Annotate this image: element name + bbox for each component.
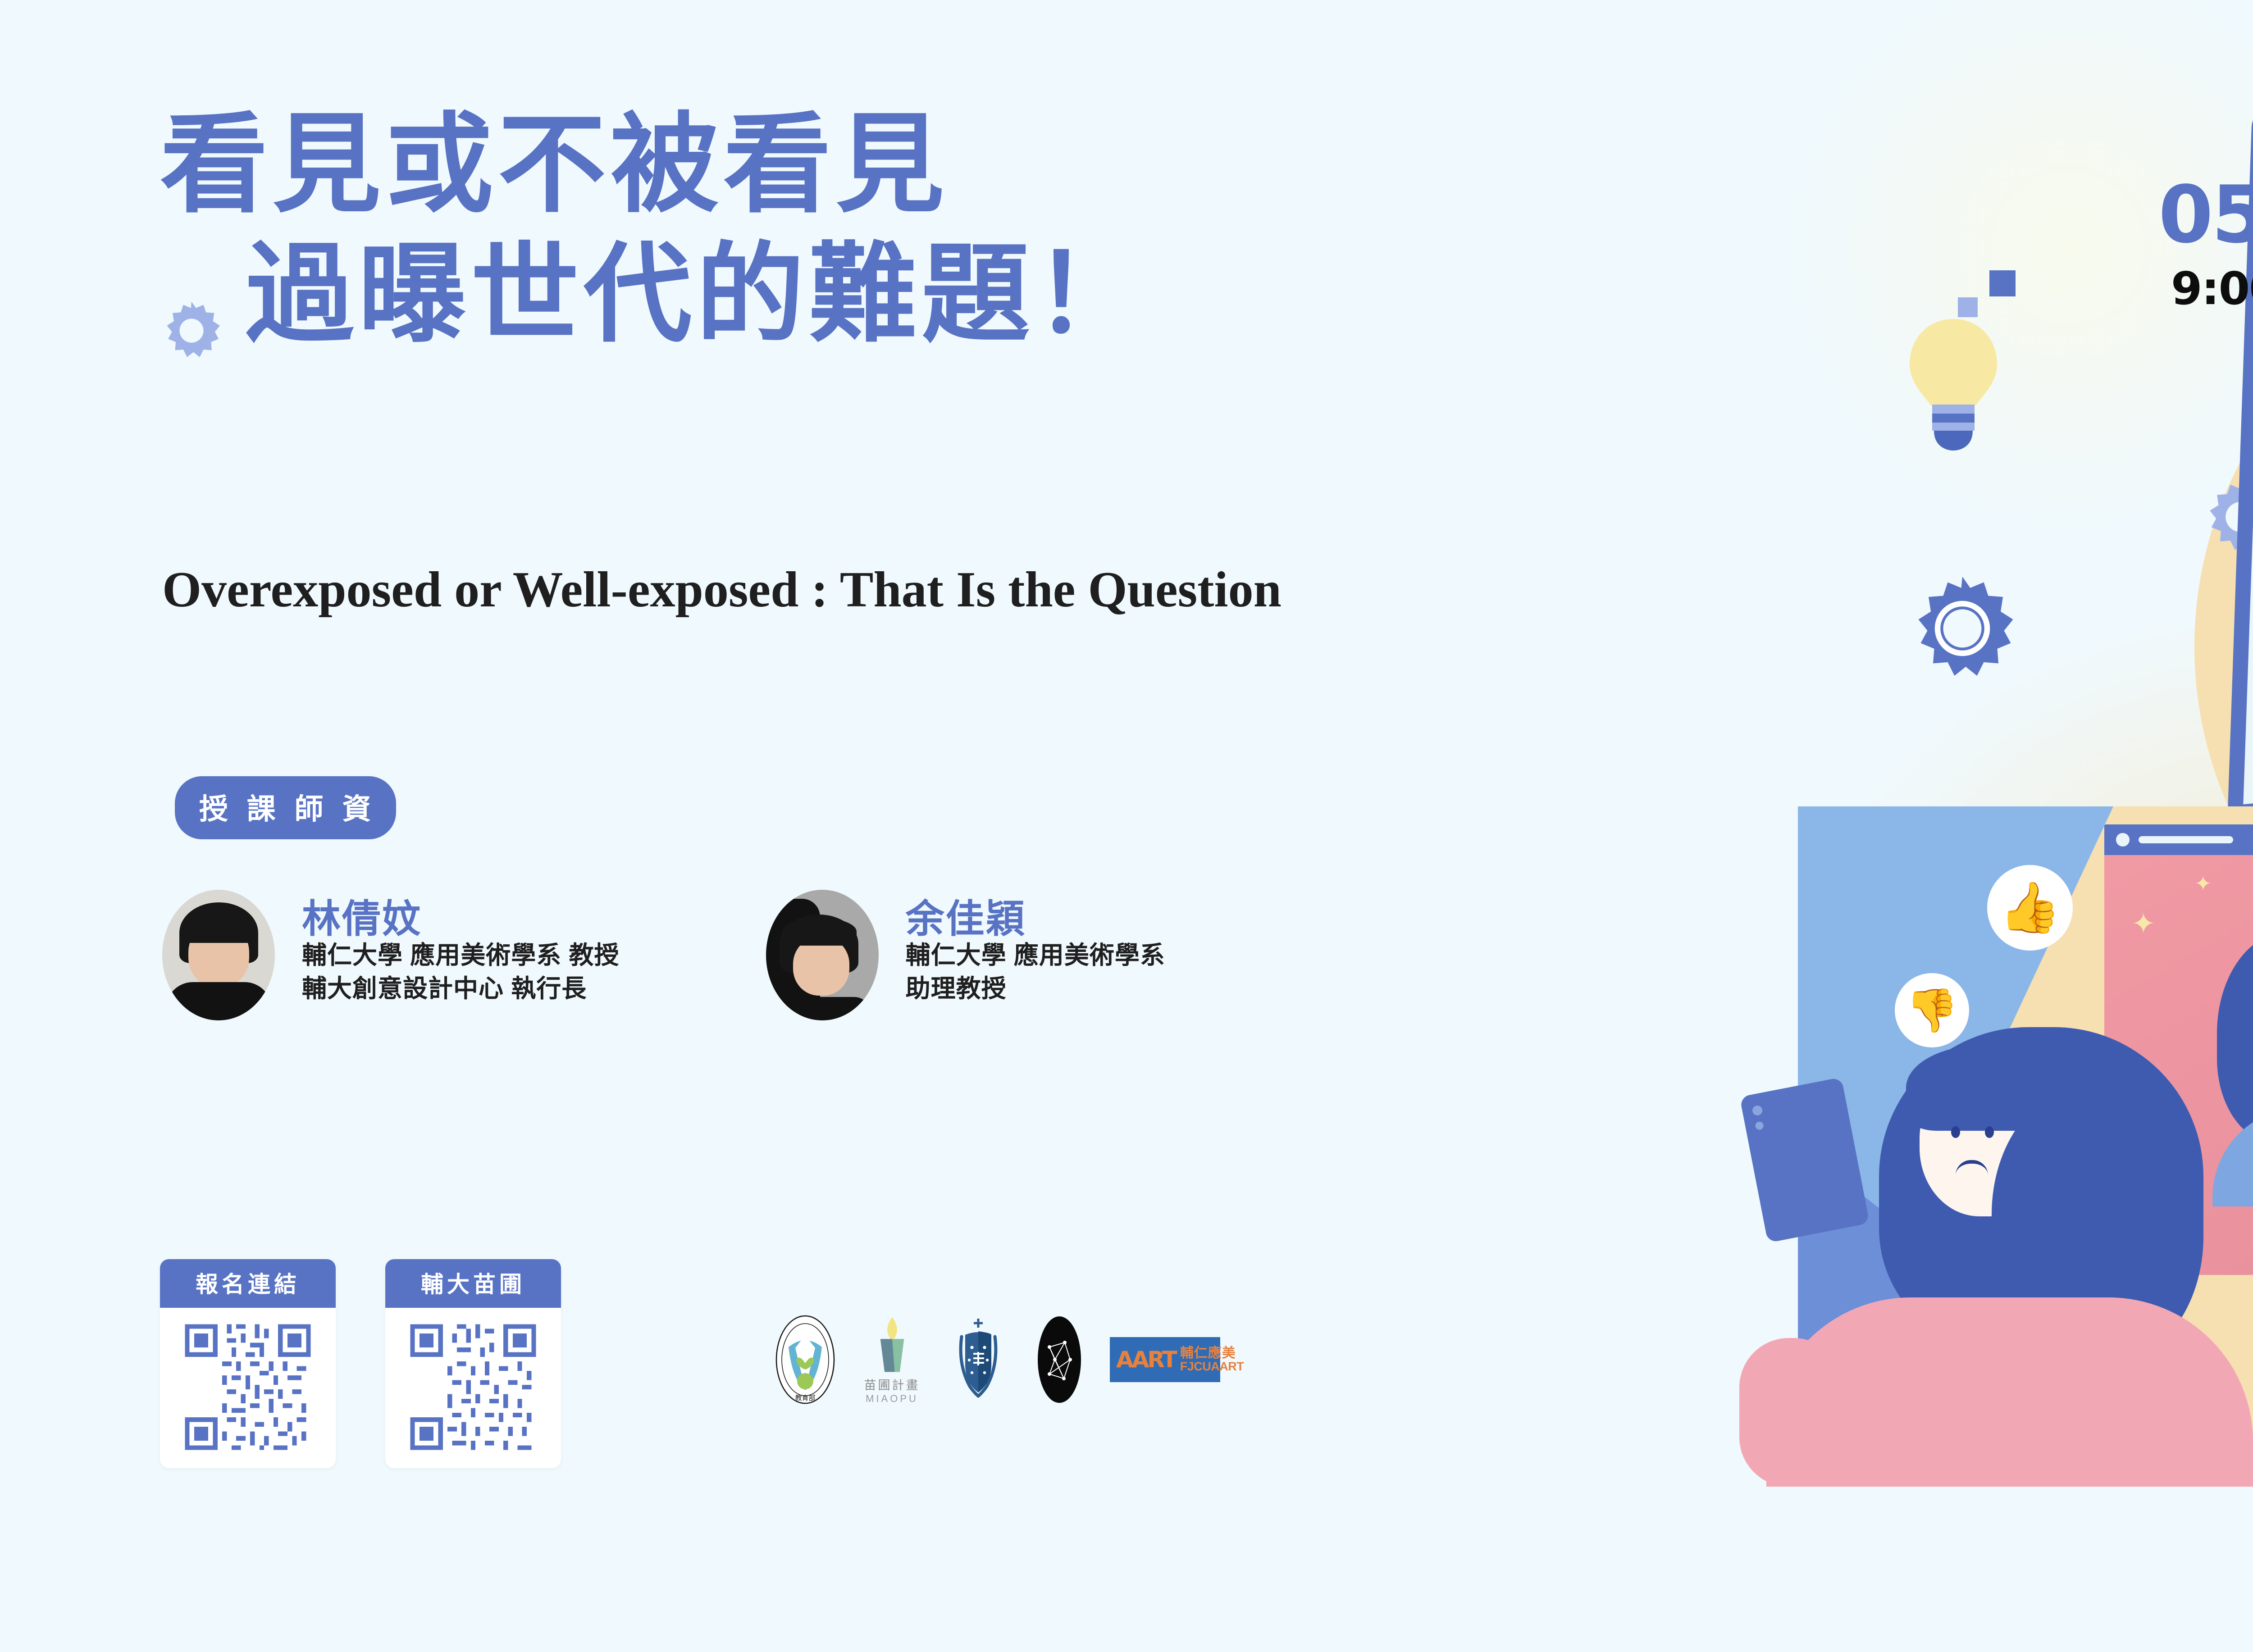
title-line-1-row: 看見或不被看見 bbox=[160, 110, 1147, 218]
title-line-1: 看見或不被看見 bbox=[160, 110, 949, 218]
logo-ministry-of-education: 教育部 bbox=[775, 1315, 836, 1405]
speaker-name: 余佳穎 bbox=[906, 900, 1165, 938]
qr-code-image[interactable] bbox=[406, 1320, 541, 1455]
speaker-avatar bbox=[766, 890, 879, 1020]
moe-cn-label: 教育部 bbox=[795, 1394, 815, 1402]
speaker-info: 林倩妏 輔仁大學 應用美術學系 教授 輔大創意設計中心 執行長 bbox=[302, 890, 620, 1020]
qr-label: 報名連結 bbox=[160, 1259, 336, 1308]
social-feed-illustration: ✦ ✦ ✦ ✦ 👍 bbox=[1798, 806, 2253, 1482]
speakers-list: 林倩妏 輔仁大學 應用美術學系 教授 輔大創意設計中心 執行長 余佳穎 輔仁大學… bbox=[162, 890, 1165, 1020]
sparkle-icon: ✦ bbox=[2131, 909, 2156, 938]
aart-mark: AART bbox=[1116, 1348, 1176, 1371]
miaopu-en-label: MIAOPU bbox=[866, 1393, 918, 1405]
speaker-info: 余佳穎 輔仁大學 應用美術學系 助理教授 bbox=[906, 890, 1165, 1020]
sparkle-icon: ✦ bbox=[2194, 873, 2212, 894]
qr-code-row: 報名連結 bbox=[160, 1259, 561, 1468]
window-dot bbox=[2116, 833, 2130, 846]
content-column: 看見或不被看見 過曝世代的難題！ Overexposed or Well-exp… bbox=[0, 0, 1757, 1652]
pixel-square bbox=[1989, 270, 2016, 296]
post-window-titlebar bbox=[2104, 824, 2253, 855]
speakers-section-heading: 授 課 師 資 bbox=[175, 776, 396, 839]
gear-icon bbox=[1906, 572, 2019, 685]
person-sad bbox=[1739, 1027, 2253, 1482]
miaopu-cn-label: 苗圃計畫 bbox=[864, 1375, 920, 1393]
aart-en-label: FJCUAART bbox=[1180, 1360, 1244, 1373]
logo-black-network bbox=[1037, 1315, 1082, 1405]
logo-miaopu: 苗圃計畫 MIAOPU bbox=[864, 1315, 920, 1405]
speaker-affiliation-2: 助理教授 bbox=[906, 972, 1165, 1005]
window-address-pill bbox=[2139, 836, 2233, 843]
qr-label: 輔大苗圃 bbox=[385, 1259, 561, 1308]
speaker-name: 林倩妏 bbox=[302, 900, 620, 938]
event-date-row: 05.28 Wed. bbox=[2158, 176, 2253, 255]
title-line-2: 過曝世代的難題！ bbox=[246, 240, 1147, 348]
pixel-square bbox=[1958, 297, 1978, 317]
aart-text: 輔仁應美 FJCUAART bbox=[1180, 1346, 1244, 1373]
logo-fjcu-aart: AART 輔仁應美 FJCUAART bbox=[1110, 1337, 1220, 1382]
event-time-row: 9:00 ▶ 12:00 bbox=[2158, 266, 2253, 311]
qr-code-image[interactable] bbox=[180, 1320, 315, 1455]
speaker-avatar bbox=[162, 890, 275, 1020]
lightbulb-icon bbox=[1906, 315, 2001, 451]
speaker-affiliation-2: 輔大創意設計中心 執行長 bbox=[302, 972, 620, 1005]
logo-fju-crest bbox=[948, 1313, 1009, 1406]
title-block: 看見或不被看見 過曝世代的難題！ bbox=[160, 110, 1147, 348]
qr-card-miaopu[interactable]: 輔大苗圃 bbox=[385, 1259, 561, 1468]
speaker-card: 余佳穎 輔仁大學 應用美術學系 助理教授 bbox=[766, 890, 1165, 1020]
event-date: 05.28 bbox=[2158, 176, 2253, 255]
speaker-affiliation-1: 輔仁大學 應用美術學系 bbox=[906, 938, 1165, 972]
aart-cn-label: 輔仁應美 bbox=[1180, 1346, 1244, 1361]
thumbs-up-icon: 👍 bbox=[1987, 865, 2073, 951]
sponsor-logo-row: 教育部 苗圃計畫 MIAOPU bbox=[775, 1313, 1220, 1406]
speaker-card: 林倩妏 輔仁大學 應用美術學系 教授 輔大創意設計中心 執行長 bbox=[162, 890, 620, 1020]
speaker-affiliation-1: 輔仁大學 應用美術學系 教授 bbox=[302, 938, 620, 972]
event-time-start: 9:00 bbox=[2171, 266, 2253, 311]
title-line-2-row: 過曝世代的難題！ bbox=[160, 240, 1147, 348]
event-datetime: 05.28 Wed. 9:00 ▶ 12:00 bbox=[2158, 176, 2253, 311]
gear-icon bbox=[160, 263, 223, 326]
poster-canvas: ? bbox=[0, 0, 2253, 1652]
qr-card-registration[interactable]: 報名連結 bbox=[160, 1259, 336, 1468]
subtitle-english: Overexposed or Well-exposed : That Is th… bbox=[162, 561, 1282, 619]
